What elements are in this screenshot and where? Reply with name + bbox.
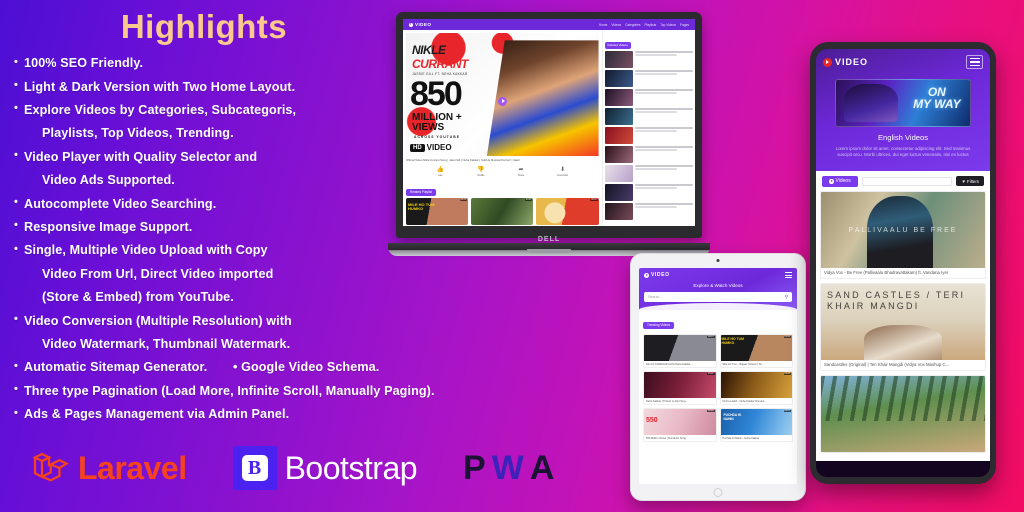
laptop-brand: DELL: [538, 236, 560, 243]
thumbnail: [821, 192, 985, 268]
thumbnail: [605, 184, 633, 201]
duration-badge: 04:12: [707, 336, 714, 338]
feature-text: Ads & Pages Management via Admin Panel.: [24, 407, 289, 421]
item-title: [635, 165, 693, 171]
video-card[interactable]: 04:21Puchda Hi Nahin - Neha Kakkar: [720, 408, 794, 442]
list-item: Ads & Pages Management via Admin Panel.: [14, 403, 420, 426]
thumbs-down-icon: 👎: [477, 166, 484, 173]
category-title: English Videos: [823, 133, 983, 142]
list-item[interactable]: [605, 127, 693, 144]
playlist-row: 04:22 03:51 05:10: [406, 198, 599, 225]
item-title: [635, 108, 693, 114]
phone-topbar: VIDEO: [823, 55, 983, 69]
duration-badge: 03:58: [707, 410, 714, 412]
feature-text: Video From Url, Direct Video imported: [42, 267, 273, 281]
laptop-screen: VIDEO Home Videos Categories Playlists T…: [403, 19, 695, 226]
player-title-block: NIKLE CURRANT JASSIE GILL FT. NEHA KAKKA…: [412, 41, 468, 76]
thumbnail: 04:45: [721, 372, 793, 398]
video-card[interactable]: 04:36Mile Ho Tum - Rajaaz Version | Ni..…: [720, 334, 794, 368]
video-caption: Dil Ko Laakh - Neha Kakkar Romant...: [721, 398, 793, 404]
share-icon: ➦: [518, 166, 523, 173]
playlist-card[interactable]: 04:22: [406, 198, 468, 225]
thumbnail: 04:36: [721, 335, 793, 361]
page-title: Highlights: [14, 8, 394, 46]
item-title: [635, 184, 693, 190]
tablet-mockup: VIDEO Explore & Watch Videos Search... ⚲…: [630, 253, 806, 501]
feature-text: 100% SEO Friendly.: [24, 56, 143, 70]
pwa-logo: P W A: [463, 449, 552, 488]
share-label: Share: [518, 174, 524, 177]
filters-label: Filters: [967, 179, 979, 184]
like-label: Like: [438, 174, 442, 177]
laptop-mockup: VIDEO Home Videos Categories Playlists T…: [388, 12, 710, 260]
list-item[interactable]: [605, 203, 693, 220]
nav-item-pages[interactable]: Pages: [680, 23, 689, 27]
phone-logo-label: VIDEO: [835, 57, 868, 67]
feature-text: Three type Pagination (Load More, Infini…: [24, 384, 435, 398]
feature-text: Video Conversion (Multiple Resolution) w…: [24, 314, 292, 328]
site-navbar: VIDEO Home Videos Categories Playlists T…: [403, 19, 695, 30]
feature-text: (Store & Embed) from YouTube.: [42, 290, 234, 304]
laravel-label: Laravel: [78, 450, 187, 487]
laravel-icon: [28, 447, 70, 489]
thumbnail: [821, 284, 985, 360]
nav-item-categories[interactable]: Categories: [625, 23, 640, 27]
list-item: Single, Multiple Video Upload with Copy: [14, 239, 420, 262]
views-sub: ACROSS YOUTUBE: [414, 135, 460, 139]
feature-text: Video Watermark, Thumbnail Watermark.: [42, 337, 290, 351]
tablet-body: VIDEO Explore & Watch Videos Search... ⚲…: [630, 253, 806, 501]
video-card[interactable]: [820, 375, 986, 453]
camera-icon: [717, 259, 720, 262]
download-icon: ⬇: [560, 166, 565, 173]
laptop-notch: [527, 249, 571, 253]
pwa-p-glyph: P: [463, 449, 484, 488]
playlist-card[interactable]: 03:51: [471, 198, 533, 225]
thumbnail: [605, 89, 633, 106]
play-icon: [644, 273, 649, 278]
search-icon[interactable]: ⚲: [785, 294, 788, 300]
hero-wave-decoration: [639, 303, 797, 311]
tablet-tagline: Explore & Watch Videos: [644, 283, 792, 288]
hamburger-icon[interactable]: [966, 55, 983, 69]
video-caption: Mile Ho Tum - Rajaaz Version | Ni...: [721, 361, 793, 367]
video-actions: 👍Like 👎Dislike ➦Share ⬇Download: [406, 162, 599, 180]
tablet-hero: VIDEO Explore & Watch Videos Search... ⚲: [639, 268, 797, 310]
item-title: [635, 70, 693, 76]
thumbnail: [605, 127, 633, 144]
feature-text: Responsive Image Support.: [24, 220, 192, 234]
feature-list: 100% SEO Friendly. Light & Dark Version …: [14, 52, 420, 427]
item-title: [635, 203, 693, 209]
thumbnail: [605, 203, 633, 220]
player-title-line1: NIKLE: [412, 43, 446, 57]
list-item[interactable]: [605, 165, 693, 182]
video-main-column: NIKLE CURRANT JASSIE GILL FT. NEHA KAKKA…: [403, 30, 602, 226]
tab-videos-label: Videos: [836, 178, 851, 184]
tablet-topbar: VIDEO: [644, 272, 792, 278]
video-caption: Neha Kakkar | Tribute to Arijit Sing...: [644, 398, 716, 404]
feature-text: Single, Multiple Video Upload with Copy: [24, 243, 268, 257]
thumbnail: [605, 165, 633, 182]
duration-badge: 04:22: [460, 199, 467, 201]
banner-artwork: [844, 84, 898, 123]
item-title: [635, 89, 693, 95]
trending-badge: Trending Videos: [643, 322, 674, 329]
laptop-lid: VIDEO Home Videos Categories Playlists T…: [396, 12, 702, 238]
thumbnail: [605, 146, 633, 163]
phone-video-list: Vidya Vox - Be Free (Pallivaalu Bhadrava…: [816, 191, 990, 461]
video-caption: Puchda Hi Nahin - Neha Kakkar: [721, 435, 793, 441]
playlist-card[interactable]: 05:10: [536, 198, 598, 225]
list-item[interactable]: [605, 146, 693, 163]
hamburger-icon[interactable]: [785, 272, 792, 278]
item-title: [635, 127, 693, 133]
duration-badge: 04:36: [784, 336, 791, 338]
like-button[interactable]: 👍Like: [437, 166, 444, 177]
banner-text: ON MY WAY: [913, 87, 961, 110]
tablet-screen: VIDEO Explore & Watch Videos Search... ⚲…: [639, 268, 797, 484]
related-videos-sidebar: Related Videos: [602, 30, 695, 226]
category-description: Lorem ipsum dolor sit amet, consectetur …: [823, 146, 983, 161]
dislike-button[interactable]: 👎Dislike: [477, 166, 484, 177]
category-banner[interactable]: ON MY WAY: [835, 79, 971, 127]
video-card[interactable]: 04:12DIL KO KARRAAR AAYA Neha Kakkar...: [643, 334, 717, 368]
video-caption: Vidya Vox - Be Free (Pallivaalu Bhadrava…: [821, 268, 985, 278]
thumbnail: [821, 376, 985, 452]
download-button[interactable]: ⬇Download: [557, 166, 568, 177]
video-caption: Sandcastles (Original) | Teri Khair Mang…: [821, 360, 985, 370]
tablet-logo[interactable]: VIDEO: [644, 272, 670, 278]
feature-text-extra: Google Video Schema.: [233, 360, 379, 374]
thumbnail: 05:02: [644, 372, 716, 398]
search-placeholder: Search...: [648, 295, 662, 299]
banner-text-line2: MY WAY: [913, 97, 961, 111]
quality-badge: HD: [410, 144, 425, 152]
pwa-w-glyph: W: [492, 449, 522, 488]
nav-item-top-videos[interactable]: Top Videos: [660, 23, 676, 27]
bootstrap-b-glyph: B: [242, 455, 268, 481]
play-icon: [823, 58, 832, 67]
dislike-label: Dislike: [477, 174, 484, 177]
related-videos-heading: Related Videos: [605, 42, 631, 49]
item-title: [635, 146, 693, 152]
thumbnail: [605, 51, 633, 68]
duration-badge: 05:02: [707, 373, 714, 375]
thumbnail: 04:12: [644, 335, 716, 361]
feature-text: Video Ads Supported.: [42, 173, 175, 187]
feature-text: Light & Dark Version with Two Home Layou…: [24, 80, 295, 94]
video-card[interactable]: 03:58550 Million Views | Romantic Song: [643, 408, 717, 442]
site-body: NIKLE CURRANT JASSIE GILL FT. NEHA KAKKA…: [403, 30, 695, 226]
thumbnail: [605, 108, 633, 125]
video-card[interactable]: 04:45Dil Ko Laakh - Neha Kakkar Romant..…: [720, 371, 794, 405]
video-card[interactable]: Sandcastles (Original) | Teri Khair Mang…: [820, 283, 986, 371]
quality-badge-group: HD VIDEO: [410, 143, 452, 152]
tablet-logo-label: VIDEO: [651, 272, 670, 278]
video-card[interactable]: 05:02Neha Kakkar | Tribute to Arijit Sin…: [643, 371, 717, 405]
pwa-a-glyph: A: [530, 449, 553, 488]
views-number: 850: [410, 81, 461, 108]
toolbar-spacer: [862, 177, 953, 186]
video-card[interactable]: Vidya Vox - Be Free (Pallivaalu Bhadrava…: [820, 191, 986, 279]
views-line2: VIEWS: [412, 123, 462, 133]
phone-mockup: VIDEO ON MY WAY English Videos Lorem ips…: [810, 42, 996, 484]
feature-text: Explore Videos by Categories, Subcategor…: [24, 103, 296, 117]
phone-screen: VIDEO ON MY WAY English Videos Lorem ips…: [816, 49, 990, 477]
play-icon: [409, 23, 413, 27]
duration-badge: 03:51: [525, 199, 532, 201]
feature-text: Automatic Sitemap Generator.: [24, 360, 207, 374]
search-input[interactable]: Search... ⚲: [644, 292, 792, 302]
nav-item-playlists[interactable]: Playlists: [645, 23, 657, 27]
tab-videos[interactable]: Videos: [822, 176, 858, 187]
list-item-continuation: (Store & Embed) from YouTube.: [14, 286, 420, 309]
home-button[interactable]: [714, 488, 723, 497]
list-item: Video Player with Quality Selector and: [14, 146, 420, 169]
thumbs-up-icon: 👍: [437, 166, 444, 173]
list-item: Light & Dark Version with Two Home Layou…: [14, 75, 420, 98]
quality-word: VIDEO: [427, 143, 452, 152]
list-item: Automatic Sitemap Generator. Google Vide…: [14, 356, 420, 379]
highlights-panel: Highlights 100% SEO Friendly. Light & Da…: [0, 0, 420, 512]
bootstrap-label: Bootstrap: [285, 450, 417, 487]
list-item: 100% SEO Friendly.: [14, 52, 420, 75]
thumbnail: 03:58: [644, 409, 716, 435]
duration-badge: 05:10: [590, 199, 597, 201]
video-caption: 550 Million Views | Romantic Song: [644, 435, 716, 441]
list-item: Three type Pagination (Load More, Infini…: [14, 380, 420, 403]
video-player[interactable]: NIKLE CURRANT JASSIE GILL FT. NEHA KAKKA…: [406, 33, 599, 156]
duration-badge: 04:21: [784, 410, 791, 412]
list-item[interactable]: [605, 51, 693, 68]
phone-body: VIDEO ON MY WAY English Videos Lorem ips…: [810, 42, 996, 484]
phone-logo[interactable]: VIDEO: [823, 57, 868, 67]
list-item: Autocomplete Video Searching.: [14, 192, 420, 215]
bootstrap-icon: B: [233, 446, 277, 490]
list-item[interactable]: [605, 89, 693, 106]
list-item-continuation: Playlists, Top Videos, Trending.: [14, 122, 420, 145]
nav-item-home[interactable]: Home: [599, 23, 608, 27]
filters-button[interactable]: ▼ Filters: [956, 176, 984, 186]
play-icon: [829, 179, 834, 184]
filter-icon: ▼: [961, 179, 965, 184]
list-item-continuation: Video From Url, Direct Video imported: [14, 263, 420, 286]
player-title-line2: CURRANT: [412, 57, 468, 71]
share-button[interactable]: ➦Share: [518, 166, 524, 177]
feature-text: Video Player with Quality Selector and: [24, 150, 257, 164]
list-item: Explore Videos by Categories, Subcategor…: [14, 99, 420, 122]
phone-hero: VIDEO ON MY WAY English Videos Lorem ips…: [816, 49, 990, 171]
tablet-video-grid: 04:12DIL KO KARRAAR AAYA Neha Kakkar... …: [639, 331, 797, 445]
feature-text: Autocomplete Video Searching.: [24, 197, 216, 211]
site-menu: Home Videos Categories Playlists Top Vid…: [599, 23, 689, 27]
list-item[interactable]: [605, 184, 693, 201]
nav-item-videos[interactable]: Videos: [611, 23, 621, 27]
bootstrap-logo: B Bootstrap: [233, 446, 417, 490]
phone-toolbar: Videos ▼ Filters: [816, 171, 990, 191]
site-logo[interactable]: VIDEO: [409, 22, 431, 27]
list-item-continuation: Video Watermark, Thumbnail Watermark.: [14, 333, 420, 356]
views-label: MILLION + VIEWS: [412, 113, 462, 132]
thumbnail: 04:21: [721, 409, 793, 435]
related-playlist-heading: Related Playlist: [406, 189, 436, 196]
download-label: Download: [557, 174, 568, 177]
duration-badge: 04:45: [784, 373, 791, 375]
laravel-logo: Laravel: [28, 447, 187, 489]
feature-text: Playlists, Top Videos, Trending.: [42, 126, 234, 140]
thumbnail: [605, 70, 633, 87]
video-caption: DIL KO KARRAAR AAYA Neha Kakkar...: [644, 361, 716, 367]
list-item: Responsive Image Support.: [14, 216, 420, 239]
list-item[interactable]: [605, 70, 693, 87]
tech-logos: Laravel B Bootstrap P W A: [28, 438, 628, 498]
site-logo-label: VIDEO: [415, 22, 431, 27]
list-item: Video Conversion (Multiple Resolution) w…: [14, 309, 420, 332]
list-item-continuation: Video Ads Supported.: [14, 169, 420, 192]
tablet-trending-section: Trending Videos: [639, 310, 797, 331]
item-title: [635, 51, 693, 57]
list-item[interactable]: [605, 108, 693, 125]
